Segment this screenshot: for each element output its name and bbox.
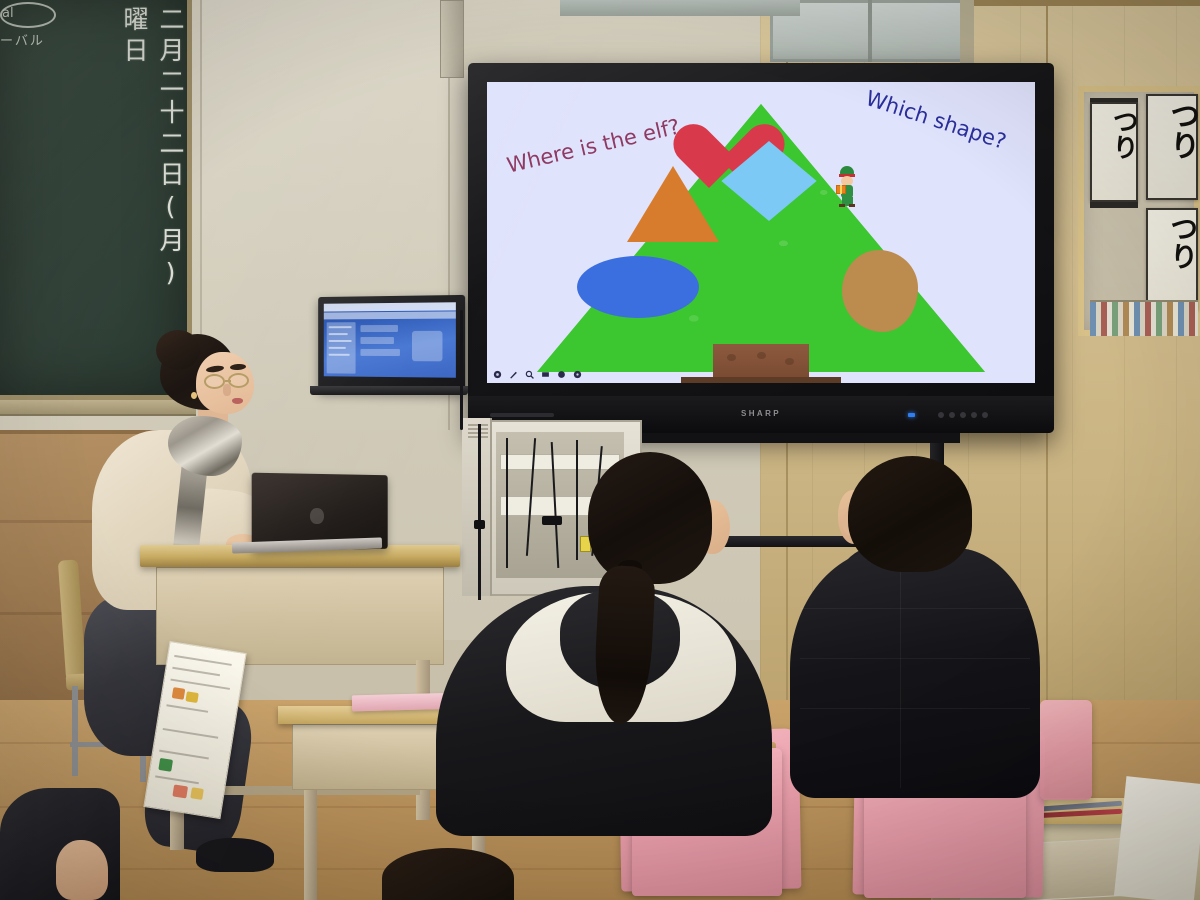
- cable-clip: [474, 520, 485, 529]
- worksheet-illustration: [185, 691, 198, 703]
- student-partial-bottom-head: [382, 848, 514, 900]
- control-key[interactable]: [982, 412, 988, 418]
- slide-toolbar[interactable]: [493, 370, 582, 379]
- gear-icon[interactable]: [493, 370, 502, 379]
- control-key[interactable]: [949, 412, 955, 418]
- cable: [576, 440, 578, 560]
- window-mullion: [868, 0, 872, 62]
- calligraphy-text: つり: [1092, 108, 1136, 160]
- whiteboard-screen[interactable]: Where is the elf? Which shape?: [487, 82, 1035, 383]
- app-titlebar: [324, 302, 456, 311]
- patch-panel-top: [500, 454, 620, 470]
- teacher-hair-bun: [156, 330, 200, 370]
- whiteboard-control-keys[interactable]: [938, 412, 988, 418]
- pen-icon[interactable]: [509, 370, 518, 379]
- blackboard-chalk-tray: [0, 400, 196, 416]
- calligraphy-clip-bottom: [1090, 202, 1138, 208]
- chair-cover-side[interactable]: [1040, 700, 1092, 800]
- teacher-nose: [223, 384, 231, 396]
- cable-external: [478, 424, 481, 600]
- connector: [542, 516, 562, 525]
- teacher-eyebrow-right: [230, 363, 246, 370]
- teacher-earring: [191, 392, 197, 399]
- sharp-brand-logo: SHARP: [741, 409, 781, 418]
- laptop-power-cable: [460, 310, 463, 430]
- calligraphy-text: つり: [1148, 214, 1196, 270]
- window-header-beam: [560, 0, 800, 16]
- white-bag: [1114, 776, 1200, 900]
- student-puffer-head: [848, 456, 972, 572]
- blackboard-corner-note: ーバル: [0, 30, 45, 49]
- magnifier-icon[interactable]: [525, 370, 534, 379]
- worksheet-illustration: [158, 758, 173, 772]
- calligraphy-sheet: つり: [1090, 102, 1138, 202]
- av-cabinet-side: [462, 418, 492, 596]
- calligraphy-sheet: つり: [1146, 94, 1198, 200]
- control-key[interactable]: [960, 412, 966, 418]
- elf-boot-left: [839, 204, 845, 207]
- app-field: [360, 337, 394, 344]
- student-puffer-body: [790, 548, 1040, 798]
- ceiling-rail: [440, 0, 464, 78]
- tree-trunk: [713, 344, 809, 378]
- elf-boot-right: [849, 204, 855, 207]
- shape-oval[interactable]: [577, 256, 699, 318]
- teacher-glasses-right-lens: [228, 373, 249, 388]
- calligraphy-display-board: つり つり つり: [1078, 86, 1200, 336]
- elf-gift-ribbon: [840, 185, 842, 194]
- student-partial-left-hand: [56, 840, 108, 900]
- chair-leg: [72, 686, 78, 776]
- blackboard-date-text: 二月二十二日(月)曜日: [116, 6, 188, 296]
- fujitsu-laptop-screen[interactable]: FUJITSU: [324, 302, 456, 378]
- app-preview-thumb: [412, 331, 442, 361]
- cable: [506, 438, 508, 568]
- lesson-slide[interactable]: Where is the elf? Which shape?: [487, 82, 1035, 383]
- settings-dot-icon[interactable]: [573, 370, 582, 379]
- worksheet-illustration: [172, 784, 188, 798]
- app-field: [360, 325, 398, 332]
- bookshelf-books: [1090, 300, 1198, 336]
- calligraphy-sheet: つり: [1146, 208, 1198, 310]
- tree-base: [681, 377, 841, 383]
- student-ponytail-head: [588, 452, 712, 584]
- shape-circle[interactable]: [842, 250, 918, 332]
- calligraphy-text: つり: [1148, 100, 1196, 160]
- power-led-indicator: [908, 413, 915, 417]
- shape-triangle[interactable]: [627, 166, 719, 242]
- teacher-mouth: [232, 398, 243, 404]
- teacher-glasses-bridge: [225, 380, 231, 382]
- teacher-shoe: [196, 838, 274, 872]
- circle-icon[interactable]: [557, 370, 566, 379]
- app-toolbar: [324, 311, 456, 319]
- rectangle-icon[interactable]: [541, 370, 550, 379]
- teacher-face: [196, 352, 254, 414]
- elf-character[interactable]: [836, 166, 858, 206]
- worksheet-illustration: [172, 687, 186, 700]
- control-key[interactable]: [938, 412, 944, 418]
- window-post: [960, 0, 974, 70]
- classroom-photo: 二月二十二日(月)曜日 al ーバル つり つり つり: [0, 0, 1200, 900]
- app-field: [360, 349, 399, 356]
- sensor-strip: [490, 413, 554, 417]
- teacher-glasses-left-lens: [204, 374, 225, 389]
- teacher-eyebrow-left: [206, 365, 225, 373]
- desk-leg: [304, 790, 317, 900]
- laptop-logo-icon: [310, 508, 324, 524]
- worksheet-illustration: [190, 787, 204, 800]
- blackboard-circled-word: al: [2, 6, 14, 21]
- control-key[interactable]: [971, 412, 977, 418]
- fujitsu-laptop-base[interactable]: [310, 386, 468, 395]
